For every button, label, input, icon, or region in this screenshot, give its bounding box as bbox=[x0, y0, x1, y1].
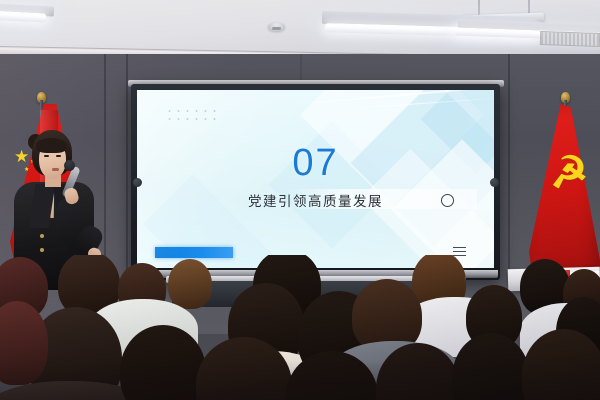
slide-number: 07 bbox=[137, 142, 494, 185]
pendant-rod-left bbox=[478, 0, 480, 16]
display-side-control-left[interactable] bbox=[133, 178, 142, 187]
lecture-hall-photo: ★ ★ ★ ★ ★ ☭ 07 党建引领高质量发展 bbox=[0, 0, 600, 400]
presentation-screen[interactable]: 07 党建引领高质量发展 bbox=[137, 90, 494, 268]
interactive-display[interactable]: 07 党建引领高质量发展 bbox=[131, 84, 500, 280]
presenter-mouth bbox=[52, 168, 59, 171]
dot-grid-decoration bbox=[165, 107, 217, 123]
hammer-sickle-emblem-icon: ☭ bbox=[545, 147, 594, 201]
jacket-button bbox=[40, 234, 44, 238]
menu-line bbox=[453, 247, 466, 248]
audience-head bbox=[168, 259, 212, 309]
circle-outline-icon[interactable] bbox=[441, 194, 454, 207]
menu-line bbox=[453, 251, 466, 252]
audience-foreground-shadow bbox=[0, 360, 600, 400]
ceiling-vent bbox=[540, 31, 600, 47]
presenter-eye bbox=[56, 155, 61, 157]
audience bbox=[0, 255, 600, 400]
display-side-control-right[interactable] bbox=[490, 178, 499, 187]
presenter-fringe bbox=[36, 138, 67, 153]
presenter-eye bbox=[44, 155, 49, 157]
jacket-button bbox=[40, 248, 44, 252]
smoke-detector-icon bbox=[268, 22, 285, 31]
